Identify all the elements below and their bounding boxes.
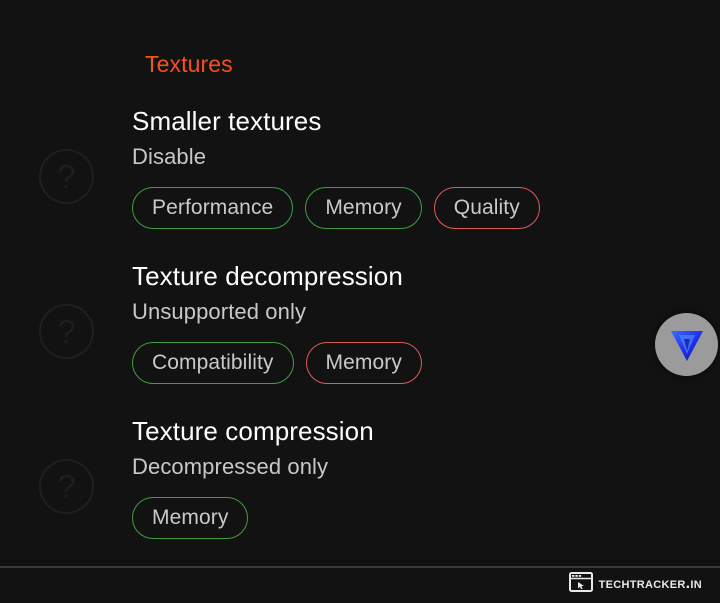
chip-row: Performance Memory Quality	[132, 187, 720, 229]
tag-chip-compatibility: Compatibility	[132, 342, 294, 384]
section-title-textures: Textures	[145, 51, 233, 78]
tag-chip-memory: Memory	[305, 187, 421, 229]
floating-logo-button[interactable]	[655, 313, 718, 376]
setting-title: Texture compression	[132, 414, 720, 448]
setting-value[interactable]: Disable	[132, 142, 720, 172]
setting-title: Smaller textures	[132, 104, 720, 138]
settings-screen: Textures ? Smaller textures Disable Perf…	[0, 0, 720, 603]
help-icon[interactable]: ?	[39, 459, 94, 514]
tag-chip-performance: Performance	[132, 187, 293, 229]
setting-row-texture-compression[interactable]: ? Texture compression Decompressed only …	[0, 414, 720, 569]
setting-body: Smaller textures Disable Performance Mem…	[132, 104, 720, 229]
tag-chip-memory: Memory	[306, 342, 422, 384]
watermark: TechTracker.in	[569, 571, 702, 597]
tag-chip-quality: Quality	[434, 187, 540, 229]
setting-body: Texture decompression Unsupported only C…	[132, 259, 720, 384]
v-logo-icon	[667, 325, 707, 365]
help-icon[interactable]: ?	[39, 149, 94, 204]
tag-chip-memory: Memory	[132, 497, 248, 539]
setting-title: Texture decompression	[132, 259, 720, 293]
settings-list: ? Smaller textures Disable Performance M…	[0, 104, 720, 569]
help-icon[interactable]: ?	[39, 304, 94, 359]
setting-row-texture-decompression[interactable]: ? Texture decompression Unsupported only…	[0, 259, 720, 414]
chip-row: Compatibility Memory	[132, 342, 720, 384]
chip-row: Memory	[132, 497, 720, 539]
setting-body: Texture compression Decompressed only Me…	[132, 414, 720, 539]
watermark-text: TechTracker.in	[599, 575, 702, 593]
bottom-divider	[0, 566, 720, 568]
setting-value[interactable]: Unsupported only	[132, 297, 720, 327]
setting-row-smaller-textures[interactable]: ? Smaller textures Disable Performance M…	[0, 104, 720, 259]
browser-window-icon	[569, 572, 593, 597]
setting-value[interactable]: Decompressed only	[132, 452, 720, 482]
